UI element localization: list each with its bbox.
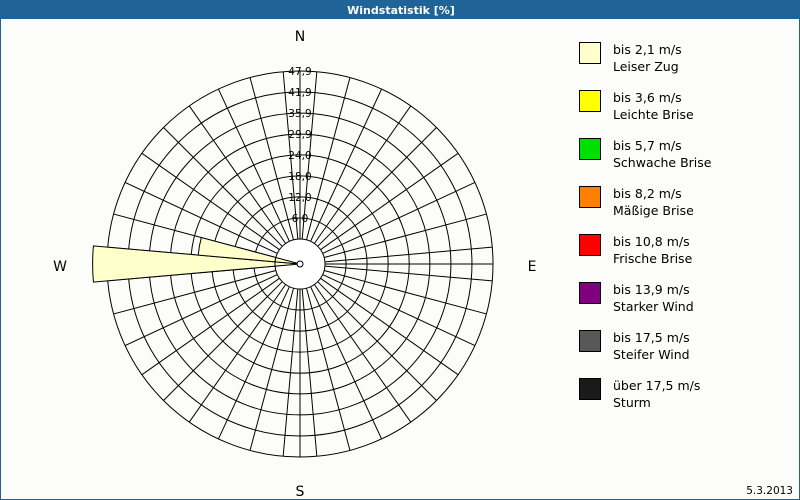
legend-item: bis 8,2 m/sMäßige Brise [579,185,794,225]
legend-speed-range: bis 13,9 m/s [613,281,694,298]
window-title-bar: Windstatistik [%] [1,1,800,19]
legend-description: Schwache Brise [613,154,711,171]
legend-description: Leichte Brise [613,106,694,123]
legend-text: bis 13,9 m/sStarker Wind [613,281,694,315]
radial-tick-label: 12,0 [288,192,311,204]
radial-tick-label: 18,0 [288,171,311,183]
compass-label-south: S [296,484,305,500]
radial-tick-label: 24,0 [288,150,311,162]
wind-petals [93,238,300,283]
grid-spoke [306,288,349,450]
grid-spoke [250,78,293,240]
legend-text: bis 10,8 m/sFrische Brise [613,233,692,267]
legend-text: bis 2,1 m/sLeiser Zug [613,41,682,75]
legend-item: bis 17,5 m/sSteifer Wind [579,329,794,369]
legend-text: bis 17,5 m/sSteifer Wind [613,329,690,363]
legend-swatch [579,378,601,400]
legend-swatch [579,42,601,64]
radial-tick-label: 47,9 [288,66,311,78]
legend-description: Sturm [613,394,700,411]
legend-item: bis 10,8 m/sFrische Brise [579,233,794,273]
radial-tick-label: 6,0 [292,213,309,225]
legend: bis 2,1 m/sLeiser Zugbis 3,6 m/sLeichte … [579,41,794,425]
legend-item: über 17,5 m/sSturm [579,377,794,417]
compass-label-east: E [528,259,537,275]
legend-speed-range: bis 2,1 m/s [613,41,682,58]
legend-swatch [579,330,601,352]
legend-swatch [579,234,601,256]
radial-tick-label: 35,9 [288,108,311,120]
window-title: Windstatistik [%] [347,4,455,17]
radial-tick-label: 41,9 [288,87,311,99]
legend-swatch [579,282,601,304]
grid-spoke [250,288,293,450]
legend-text: über 17,5 m/sSturm [613,377,700,411]
legend-description: Steifer Wind [613,346,690,363]
legend-speed-range: bis 10,8 m/s [613,233,692,250]
grid-spoke [324,214,486,257]
legend-swatch [579,90,601,112]
center-hub [275,239,325,289]
wind-rose-svg: 6,012,018,024,029,935,941,947,9 N S W E [1,19,561,500]
legend-text: bis 3,6 m/sLeichte Brise [613,89,694,123]
legend-speed-range: bis 8,2 m/s [613,185,694,202]
legend-speed-range: über 17,5 m/s [613,377,700,394]
legend-description: Mäßige Brise [613,202,694,219]
legend-description: Frische Brise [613,250,692,267]
legend-text: bis 8,2 m/sMäßige Brise [613,185,694,219]
windstatistik-window: Windstatistik [%] 6,012,018,024,029,935,… [0,0,800,500]
legend-item: bis 3,6 m/sLeichte Brise [579,89,794,129]
legend-item: bis 5,7 m/sSchwache Brise [579,137,794,177]
grid-spoke [306,78,349,240]
legend-speed-range: bis 17,5 m/s [613,329,690,346]
legend-speed-range: bis 3,6 m/s [613,89,694,106]
compass-label-north: N [295,29,305,45]
legend-text: bis 5,7 m/sSchwache Brise [613,137,711,171]
legend-swatch [579,186,601,208]
center-dot [297,261,303,267]
grid-spoke [324,270,486,313]
legend-description: Starker Wind [613,298,694,315]
radial-tick-label: 29,9 [288,129,311,141]
compass-label-west: W [53,259,67,275]
legend-item: bis 2,1 m/sLeiser Zug [579,41,794,81]
wind-petal [93,246,300,282]
legend-description: Leiser Zug [613,58,682,75]
date-stamp: 5.3.2013 [746,485,793,497]
legend-speed-range: bis 5,7 m/s [613,137,711,154]
wind-rose-chart: 6,012,018,024,029,935,941,947,9 N S W E [1,19,561,500]
legend-swatch [579,138,601,160]
legend-item: bis 13,9 m/sStarker Wind [579,281,794,321]
